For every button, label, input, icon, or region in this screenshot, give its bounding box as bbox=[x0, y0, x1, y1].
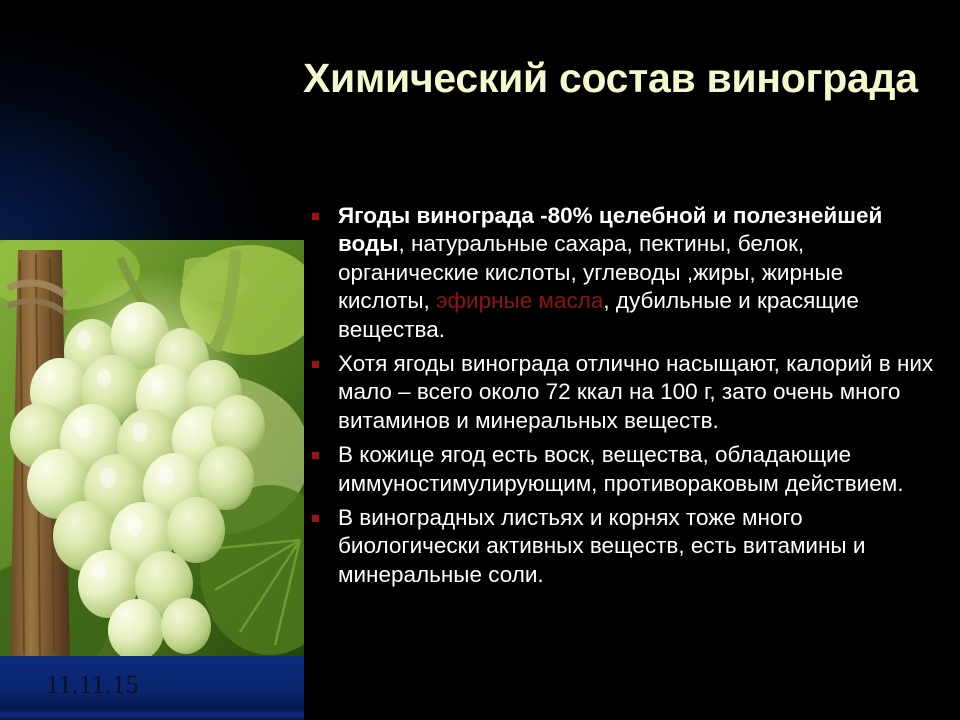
bullet-square-icon bbox=[312, 452, 319, 459]
grape-photo bbox=[0, 240, 304, 660]
bullet-text-calories: Хотя ягоды винограда отлично насыщают, к… bbox=[338, 351, 933, 433]
bullet-square-icon bbox=[312, 361, 319, 368]
grape-photo-image bbox=[0, 240, 304, 660]
slide-date: 11.11.15 bbox=[46, 670, 139, 700]
bullet-accent-essential-oils: эфирные масла bbox=[436, 288, 603, 313]
list-item: Ягоды винограда -80% целебной и полезней… bbox=[310, 202, 938, 344]
bullet-text-leaves: В виноградных листьях и корнях тоже мног… bbox=[338, 505, 865, 587]
bullet-text-composition: Ягоды винограда -80% целебной и полезней… bbox=[338, 203, 882, 342]
list-item: В кожице ягод есть воск, вещества, облад… bbox=[310, 441, 938, 498]
slide-title: Химический состав винограда bbox=[303, 54, 923, 102]
bullet-text-skin: В кожице ягод есть воск, вещества, облад… bbox=[338, 442, 904, 495]
date-footer-band: 11.11.15 bbox=[0, 656, 304, 720]
bullet-square-icon bbox=[312, 515, 319, 522]
bullet-square-icon bbox=[312, 213, 319, 220]
presentation-slide: Химический состав винограда bbox=[0, 0, 960, 720]
slide-body-list: Ягоды винограда -80% целебной и полезней… bbox=[310, 202, 938, 595]
list-item: Хотя ягоды винограда отлично насыщают, к… bbox=[310, 350, 938, 435]
list-item: В виноградных листьях и корнях тоже мног… bbox=[310, 504, 938, 589]
